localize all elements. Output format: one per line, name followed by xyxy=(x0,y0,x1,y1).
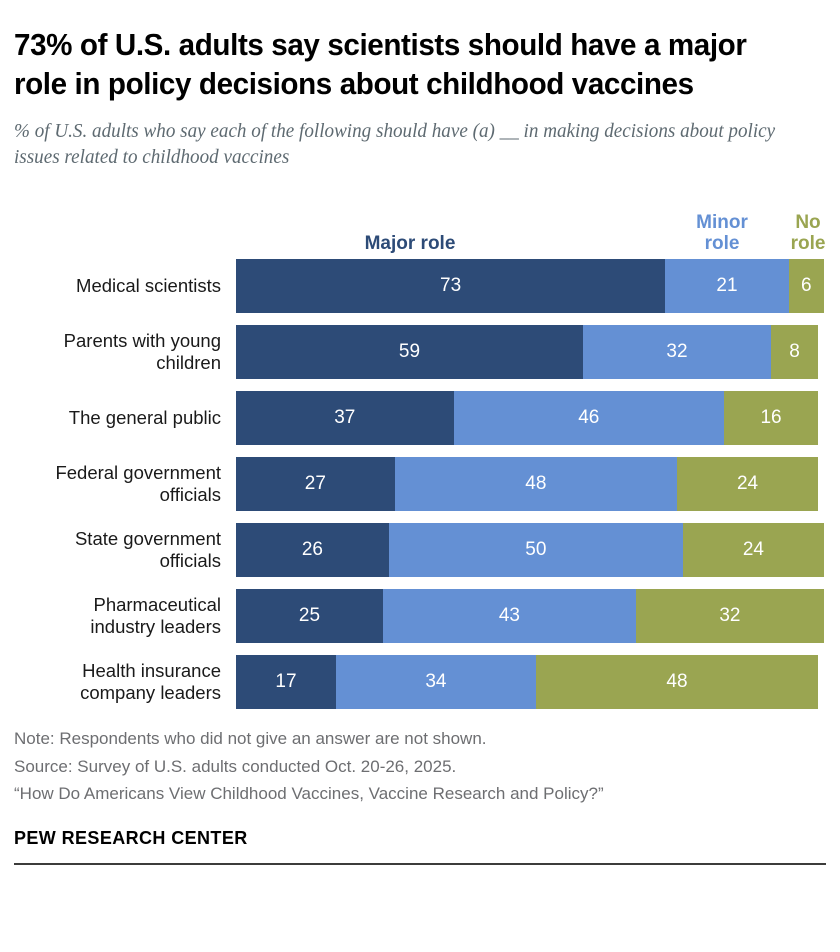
chart-row-label-line: The general public xyxy=(69,407,221,428)
bar-value-label: 48 xyxy=(666,671,687,693)
bar-segment-minor-role: 21 xyxy=(665,259,788,313)
chart-row-label: Parents with youngchildren xyxy=(14,330,236,374)
bar-value-label: 6 xyxy=(801,275,812,297)
chart-row: The general public374616 xyxy=(14,391,826,445)
bar-segment-no-role: 32 xyxy=(636,589,824,643)
chart-row-label: State governmentofficials xyxy=(14,528,236,572)
bar-segment-major-role: 26 xyxy=(236,523,389,577)
stacked-bar: 59328 xyxy=(236,325,818,379)
chart-footer: Note: Respondents who did not give an an… xyxy=(14,725,826,808)
legend-label-no-role-line2: role xyxy=(791,233,826,254)
page-title: 73% of U.S. adults say scientists should… xyxy=(14,0,790,103)
chart-row-label-line: Medical scientists xyxy=(76,275,221,296)
bar-segment-no-role: 8 xyxy=(771,325,818,379)
footer-source: Source: Survey of U.S. adults conducted … xyxy=(14,753,826,781)
footer-report-title: “How Do Americans View Childhood Vaccine… xyxy=(14,780,826,808)
chart-row: Medical scientists73216 xyxy=(14,259,826,313)
chart-row-label-line: industry leaders xyxy=(90,616,221,637)
bar-segment-major-role: 73 xyxy=(236,259,665,313)
bar-value-label: 24 xyxy=(737,473,758,495)
bar-value-label: 46 xyxy=(578,407,599,429)
chart-row-label: Health insurancecompany leaders xyxy=(14,660,236,704)
chart-row: Federal governmentofficials274824 xyxy=(14,457,826,511)
bar-segment-major-role: 17 xyxy=(236,655,336,709)
legend-item-no-role: No role xyxy=(776,212,840,256)
stacked-bar: 173448 xyxy=(236,655,818,709)
bar-segment-minor-role: 43 xyxy=(383,589,636,643)
footer-divider xyxy=(14,863,826,865)
chart-row-label: Federal governmentofficials xyxy=(14,462,236,506)
chart-row-label: Pharmaceuticalindustry leaders xyxy=(14,594,236,638)
footer-note: Note: Respondents who did not give an an… xyxy=(14,725,826,753)
chart-row-label: The general public xyxy=(14,407,236,429)
chart-legend: Major role Minor role No role xyxy=(14,193,826,255)
bar-segment-major-role: 59 xyxy=(236,325,583,379)
bar-value-label: 37 xyxy=(334,407,355,429)
bar-value-label: 16 xyxy=(760,407,781,429)
chart-row-label-line: Pharmaceutical xyxy=(93,594,221,615)
bar-segment-minor-role: 46 xyxy=(454,391,724,445)
bar-segment-minor-role: 50 xyxy=(389,523,683,577)
bar-segment-minor-role: 34 xyxy=(336,655,536,709)
stacked-bar: 73216 xyxy=(236,259,824,313)
stacked-bar: 265024 xyxy=(236,523,824,577)
bar-segment-no-role: 6 xyxy=(789,259,824,313)
bar-value-label: 25 xyxy=(299,605,320,627)
bar-segment-major-role: 27 xyxy=(236,457,395,511)
legend-item-major-role: Major role xyxy=(295,233,525,255)
chart-row: State governmentofficials265024 xyxy=(14,523,826,577)
bar-segment-no-role: 48 xyxy=(536,655,818,709)
bar-value-label: 48 xyxy=(525,473,546,495)
chart-row-label-line: company leaders xyxy=(80,682,221,703)
bar-value-label: 24 xyxy=(743,539,764,561)
bar-value-label: 21 xyxy=(716,275,737,297)
bar-value-label: 32 xyxy=(719,605,740,627)
bar-segment-no-role: 24 xyxy=(677,457,818,511)
bar-value-label: 50 xyxy=(525,539,546,561)
chart-row: Health insurancecompany leaders173448 xyxy=(14,655,826,709)
chart-subtitle: % of U.S. adults who say each of the fol… xyxy=(14,103,810,171)
pew-research-center-brand: PEW RESEARCH CENTER xyxy=(14,828,826,849)
bar-value-label: 73 xyxy=(440,275,461,297)
bar-segment-minor-role: 48 xyxy=(395,457,677,511)
bar-segment-major-role: 37 xyxy=(236,391,454,445)
chart-row-label-line: officials xyxy=(160,484,221,505)
bar-segment-no-role: 16 xyxy=(724,391,818,445)
chart-row-label-line: Health insurance xyxy=(82,660,221,681)
stacked-bar: 274824 xyxy=(236,457,818,511)
bar-value-label: 59 xyxy=(399,341,420,363)
chart-row: Pharmaceuticalindustry leaders254332 xyxy=(14,589,826,643)
legend-item-minor-role: Minor role xyxy=(679,212,765,256)
chart-row-label-line: children xyxy=(156,352,221,373)
chart-row-label-line: Federal government xyxy=(55,462,221,483)
bar-value-label: 8 xyxy=(789,341,800,363)
stacked-bar: 374616 xyxy=(236,391,818,445)
bar-segment-major-role: 25 xyxy=(236,589,383,643)
legend-label-no-role-line1: No xyxy=(795,212,820,233)
bar-value-label: 43 xyxy=(499,605,520,627)
chart-row-label-line: Parents with young xyxy=(64,330,221,351)
chart-row: Parents with youngchildren59328 xyxy=(14,325,826,379)
stacked-bar: 254332 xyxy=(236,589,824,643)
stacked-bar-chart: Medical scientists73216Parents with youn… xyxy=(14,259,826,709)
legend-label-minor-role-line2: role xyxy=(705,233,740,254)
bar-value-label: 27 xyxy=(305,473,326,495)
chart-row-label-line: officials xyxy=(160,550,221,571)
legend-label-major-role: Major role xyxy=(365,233,456,254)
bar-segment-minor-role: 32 xyxy=(583,325,771,379)
legend-label-minor-role-line1: Minor xyxy=(696,212,748,233)
bar-value-label: 32 xyxy=(666,341,687,363)
chart-row-label-line: State government xyxy=(75,528,221,549)
bar-segment-no-role: 24 xyxy=(683,523,824,577)
bar-value-label: 26 xyxy=(302,539,323,561)
bar-value-label: 34 xyxy=(425,671,446,693)
chart-page: 73% of U.S. adults say scientists should… xyxy=(0,0,840,952)
chart-row-label: Medical scientists xyxy=(14,275,236,297)
bar-value-label: 17 xyxy=(275,671,296,693)
